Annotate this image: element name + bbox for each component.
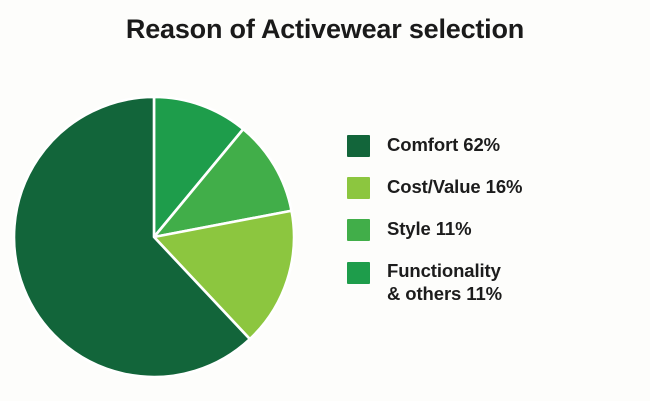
legend-color-swatch bbox=[347, 135, 370, 157]
legend-item[interactable]: Style 11% bbox=[347, 217, 627, 241]
legend-color-swatch bbox=[347, 219, 370, 241]
chart-legend: Comfort 62%Cost/Value 16%Style 11%Functi… bbox=[347, 133, 627, 305]
legend-item[interactable]: Cost/Value 16% bbox=[347, 175, 627, 199]
pie-chart-figure: Reason of Activewear selection Comfort 6… bbox=[0, 0, 650, 401]
pie-chart-graphic bbox=[13, 96, 295, 378]
pie-svg bbox=[13, 96, 295, 378]
legend-item-label: Style 11% bbox=[387, 217, 471, 240]
legend-item-label: Comfort 62% bbox=[387, 133, 500, 156]
legend-item[interactable]: Functionality & others 11% bbox=[347, 259, 627, 305]
legend-color-swatch bbox=[347, 262, 370, 284]
legend-item-label: Cost/Value 16% bbox=[387, 175, 522, 198]
legend-color-swatch bbox=[347, 177, 370, 199]
legend-item[interactable]: Comfort 62% bbox=[347, 133, 627, 157]
pie-slices bbox=[14, 97, 294, 377]
chart-title: Reason of Activewear selection bbox=[0, 12, 650, 46]
legend-item-label: Functionality & others 11% bbox=[387, 259, 502, 305]
